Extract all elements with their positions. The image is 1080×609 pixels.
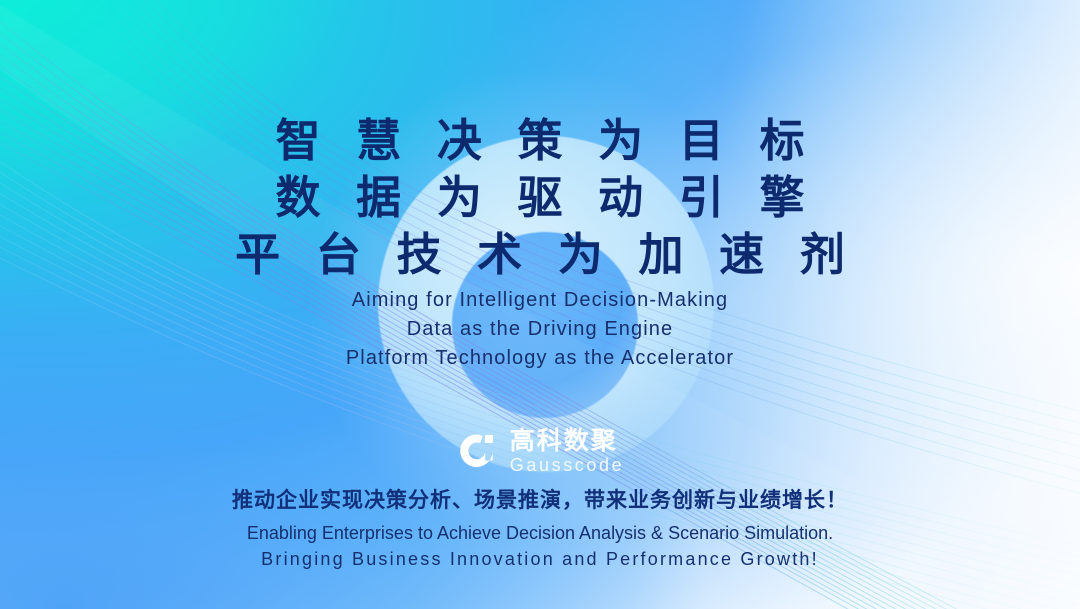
- subheadline-block: Aiming for Intelligent Decision-Making D…: [0, 286, 1080, 373]
- tagline-chinese: 推动企业实现决策分析、场景推演，带来业务创新与业绩增长！: [0, 484, 1080, 514]
- gausscode-g-mark-icon: [456, 430, 498, 472]
- tagline-english-line-1: Enabling Enterprises to Achieve Decision…: [0, 520, 1080, 546]
- headline-line-2: 数 据 为 驱 动 引 擎: [0, 169, 1080, 226]
- tagline-english-block: Enabling Enterprises to Achieve Decision…: [0, 520, 1080, 572]
- subheadline-line-1: Aiming for Intelligent Decision-Making: [0, 286, 1080, 315]
- headline-line-3: 平 台 技 术 为 加 速 剂: [0, 226, 1080, 283]
- slide-canvas: 智 慧 决 策 为 目 标 数 据 为 驱 动 引 擎 平 台 技 术 为 加 …: [0, 0, 1080, 609]
- logo-name-cn: 高科数聚: [510, 428, 624, 453]
- subheadline-line-2: Data as the Driving Engine: [0, 315, 1080, 344]
- headline-block: 智 慧 决 策 为 目 标 数 据 为 驱 动 引 擎 平 台 技 术 为 加 …: [0, 112, 1080, 283]
- company-logo: 高科数聚 Gausscode: [0, 428, 1080, 474]
- tagline-english-line-2: Bringing Business Innovation and Perform…: [0, 546, 1080, 572]
- logo-wordmark: 高科数聚 Gausscode: [510, 428, 624, 474]
- logo-name-en: Gausscode: [510, 456, 624, 474]
- slide-content: 智 慧 决 策 为 目 标 数 据 为 驱 动 引 擎 平 台 技 术 为 加 …: [0, 0, 1080, 609]
- subheadline-line-3: Platform Technology as the Accelerator: [0, 344, 1080, 373]
- headline-line-1: 智 慧 决 策 为 目 标: [0, 112, 1080, 169]
